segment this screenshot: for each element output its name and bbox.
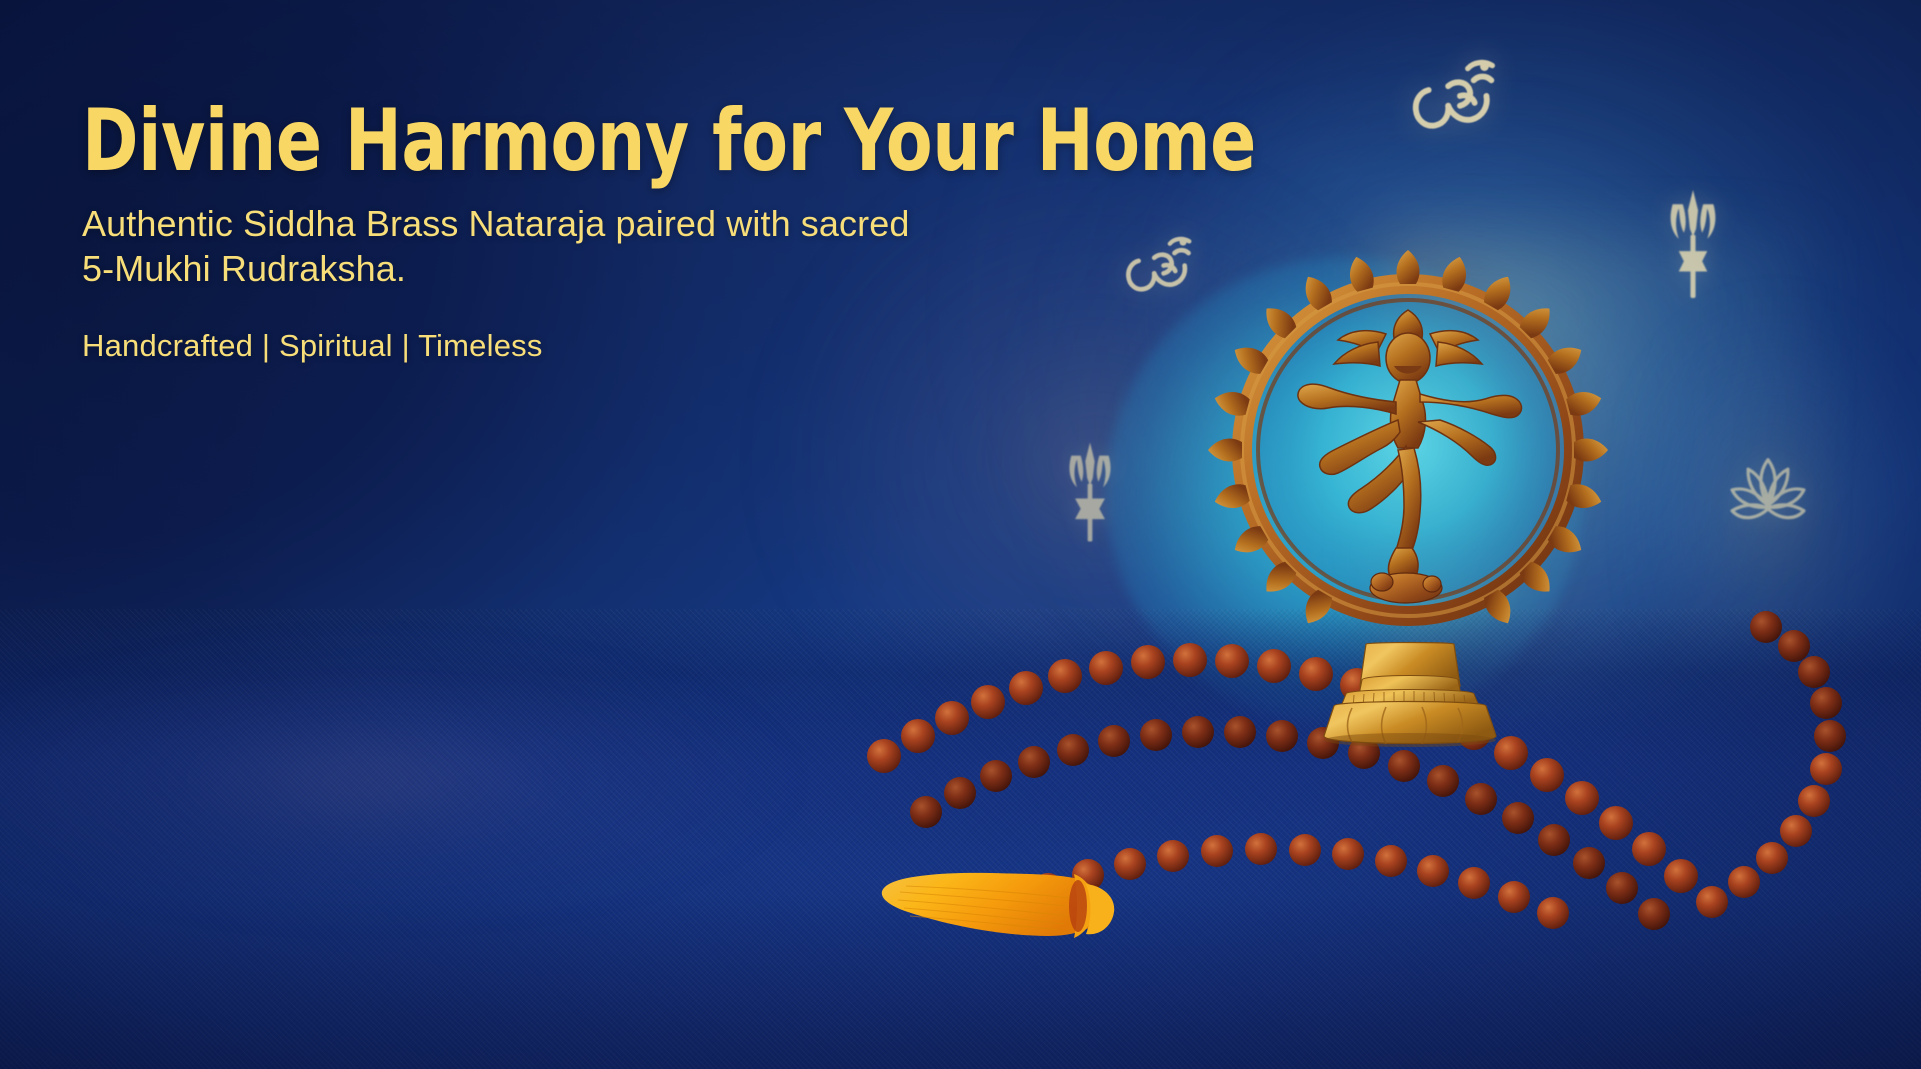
- banner-subtitle: Authentic Siddha Brass Nataraja paired w…: [82, 201, 912, 292]
- banner-tagline: Handcrafted | Spiritual | Timeless: [82, 328, 1202, 364]
- silk-tassel: [870, 850, 1120, 960]
- banner-text-block: Divine Harmony for Your Home Authentic S…: [82, 100, 1202, 364]
- lotus-pedestal: [1300, 640, 1520, 750]
- promotional-banner: Divine Harmony for Your Home Authentic S…: [0, 0, 1921, 1069]
- page-title: Divine Harmony for Your Home: [82, 100, 1068, 183]
